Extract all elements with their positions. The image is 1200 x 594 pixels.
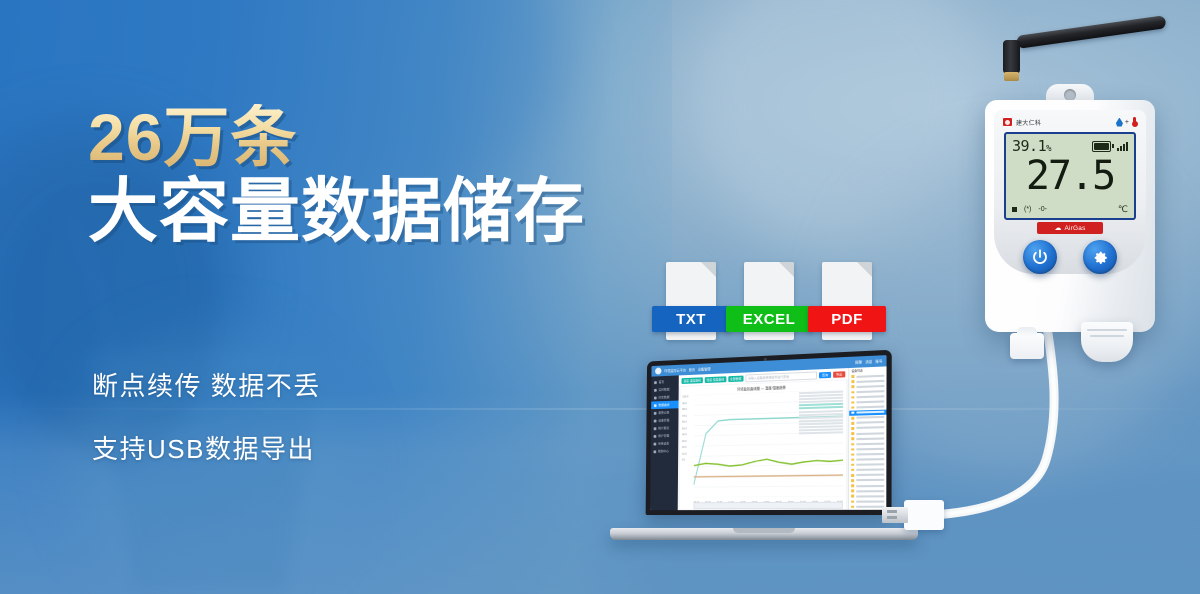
- file-label-band: PDF: [808, 306, 886, 332]
- sensor-probe: [1081, 322, 1133, 362]
- y-tick-8: 20.0: [682, 446, 688, 449]
- folder-icon: [851, 432, 854, 435]
- signal-icon: [1117, 141, 1128, 151]
- data-logger-device: 建大仁科 + 39.1%: [985, 100, 1155, 350]
- dashboard-main: 温度 温度曲线 湿度 湿度曲线 全部数据 请输入设备名称或编号进行查询 查询 导…: [678, 368, 849, 510]
- folder-icon: [851, 505, 854, 508]
- battery-icon: [1092, 141, 1111, 152]
- header-spacer: [713, 362, 852, 368]
- folder-icon: [851, 453, 854, 456]
- subtext-line-2: 支持USB数据导出: [92, 429, 321, 466]
- folder-icon: [851, 490, 854, 493]
- query-button[interactable]: 查询: [819, 371, 831, 378]
- subtext-block: 断点续传 数据不丢 支持USB数据导出: [92, 366, 321, 492]
- header-menu-item[interactable]: 首页: [689, 367, 695, 372]
- sidebar-item-label: 统计报表: [658, 426, 669, 430]
- sidebar-item-icon: [654, 434, 657, 437]
- airgas-label: AirGas: [1064, 225, 1085, 232]
- grid-line: [694, 497, 843, 498]
- folder-icon: [851, 417, 854, 420]
- sidebar-item-icon: [653, 450, 656, 453]
- folder-icon: [851, 396, 854, 399]
- folder-icon: [851, 422, 854, 425]
- sidebar-item-icon: [654, 442, 657, 445]
- tooltip-row: [799, 432, 843, 435]
- sidebar-item-label: 设备管理: [658, 418, 669, 422]
- folder-icon: [851, 448, 854, 451]
- temperature-reading: 27.5: [1006, 156, 1134, 196]
- antenna-hinge-icon: [1003, 40, 1020, 74]
- y-tick-5: 50.0: [682, 427, 688, 430]
- folder-icon: [851, 380, 854, 383]
- folder-icon: [851, 464, 854, 467]
- y-tick-9: 10.0: [682, 452, 688, 455]
- folder-icon: [851, 474, 854, 477]
- folder-icon: [851, 427, 854, 430]
- sidebar-item-icon: [654, 381, 657, 384]
- device-brand-row: 建大仁科 +: [1002, 116, 1138, 128]
- chart-y-axis: 100.090.080.070.060.050.040.030.020.010.…: [682, 395, 689, 461]
- chart-data-tooltip: [799, 391, 843, 436]
- headline-gold: 26万条: [88, 104, 688, 170]
- sidebar-item-label: 首页: [659, 380, 665, 384]
- y-tick-3: 70.0: [682, 414, 688, 417]
- sidebar-item-label: 实时数据: [659, 387, 670, 391]
- lcd-display: 39.1% 27.5 (*) -0- ℃: [1004, 132, 1136, 220]
- gear-icon: [1091, 248, 1109, 266]
- file-format-badges: TXT EXCEL PDF: [660, 262, 878, 342]
- dashboard-title: 环境监控云平台: [664, 367, 686, 373]
- page-fold-icon: [779, 262, 794, 277]
- headline-white: 大容量数据储存: [88, 176, 688, 247]
- banner-stage: 26万条 大容量数据储存 断点续传 数据不丢 支持USB数据导出 TXT EXC…: [0, 0, 1200, 594]
- laptop-base: [610, 528, 918, 540]
- chart-panel: 环境监控曲线图 — 温度/湿度趋势 100.090.080.070.060.05…: [680, 380, 847, 509]
- page-fold-icon: [701, 262, 716, 277]
- folder-icon: [851, 375, 854, 378]
- filter-chip-temperature[interactable]: 温度 温度曲线: [681, 377, 702, 384]
- header-message[interactable]: 消息: [865, 359, 872, 364]
- chart-range-slider[interactable]: [693, 502, 842, 509]
- chart-series-2: [694, 475, 843, 477]
- sidebar-item-label: 历史数据: [658, 395, 669, 399]
- folder-icon: [851, 438, 854, 441]
- device-buttons: [994, 240, 1146, 274]
- sidebar-item-icon: [654, 427, 657, 430]
- sidebar-item-icon: [654, 411, 657, 414]
- folder-icon: [851, 458, 854, 461]
- usb-c-plug: [1010, 333, 1044, 359]
- device-body: 建大仁科 + 39.1%: [985, 100, 1155, 332]
- folder-icon: [851, 391, 854, 394]
- laptop: 环境监控云平台 首页 设备管理 报警 消息 账号 首页实时数据历史数据数据曲线报…: [610, 355, 918, 540]
- y-tick-2: 80.0: [682, 408, 688, 411]
- link-indicator-icon: -0-: [1038, 206, 1047, 213]
- folder-icon: [851, 386, 854, 389]
- plus-symbol: +: [1125, 119, 1129, 126]
- y-tick-0: 100.0: [682, 395, 688, 398]
- filter-chip-humidity[interactable]: 湿度 湿度曲线: [705, 376, 727, 383]
- folder-icon: [851, 406, 854, 409]
- sidebar-item-icon: [654, 396, 657, 399]
- settings-button[interactable]: [1083, 240, 1117, 274]
- sidebar-item-label: 系统设置: [658, 441, 669, 445]
- sun-indicator-icon: (*): [1024, 206, 1031, 213]
- grid-line: [694, 454, 843, 457]
- measurement-symbols: +: [1116, 117, 1138, 127]
- thermometer-icon: [1131, 117, 1138, 127]
- folder-icon: [851, 484, 854, 487]
- folder-icon: [851, 495, 854, 498]
- sidebar-item-9[interactable]: 帮助中心: [651, 447, 678, 455]
- folder-icon: [851, 469, 854, 472]
- y-tick-6: 40.0: [682, 433, 688, 436]
- file-badge-txt: TXT: [660, 262, 722, 342]
- sidebar-item-label: 数据曲线: [658, 403, 669, 407]
- header-alarm[interactable]: 报警: [855, 359, 862, 364]
- temperature-unit: ℃: [1118, 204, 1128, 215]
- grid-line: [694, 443, 843, 446]
- app-logo-icon: [655, 368, 661, 375]
- power-icon: [1031, 248, 1049, 266]
- humidity-drop-icon: [1116, 118, 1123, 127]
- headline-block: 26万条 大容量数据储存: [88, 104, 688, 247]
- folder-icon: [851, 479, 854, 482]
- device-faceplate: 建大仁科 + 39.1%: [994, 110, 1146, 274]
- brand-logo-icon: [1002, 117, 1013, 127]
- page-fold-icon: [857, 262, 872, 277]
- folder-icon: [851, 412, 854, 415]
- power-button[interactable]: [1023, 240, 1057, 274]
- antenna-connector-icon: [1004, 72, 1019, 81]
- dashboard-body: 首页实时数据历史数据数据曲线报警记录设备管理统计报表用户管理系统设置帮助中心 温…: [650, 366, 886, 510]
- y-tick-10: 0.0: [682, 458, 688, 461]
- sidebar-item-label: 报警记录: [658, 411, 669, 415]
- usb-connector: [882, 500, 944, 530]
- sidebar-item-label: 用户管理: [658, 434, 669, 438]
- search-input[interactable]: 请输入设备名称或编号进行查询: [745, 371, 817, 382]
- record-indicator-icon: [1012, 207, 1017, 212]
- file-label-band: EXCEL: [726, 306, 812, 332]
- sidebar-item-label: 帮助中心: [658, 449, 669, 453]
- file-badge-excel: EXCEL: [738, 262, 800, 342]
- y-tick-7: 30.0: [682, 440, 688, 443]
- usb-housing: [904, 500, 944, 530]
- airgas-badge: ☁ AirGas: [1037, 222, 1103, 234]
- subtext-line-1: 断点续传 数据不丢: [92, 366, 321, 403]
- dashboard-sidebar: 首页实时数据历史数据数据曲线报警记录设备管理统计报表用户管理系统设置帮助中心: [650, 375, 679, 510]
- grid-line: [694, 486, 843, 487]
- y-tick-4: 60.0: [682, 421, 688, 424]
- usb-plug-icon: [882, 507, 908, 523]
- wifi-icon: ☁: [1054, 225, 1061, 232]
- lcd-bottom-row: (*) -0- ℃: [1012, 204, 1128, 215]
- export-button[interactable]: 导出: [833, 371, 845, 378]
- laptop-lid: 环境监控云平台 首页 设备管理 报警 消息 账号 首页实时数据历史数据数据曲线报…: [646, 350, 892, 515]
- file-label-band: TXT: [652, 306, 730, 332]
- sidebar-item-icon: [654, 419, 657, 422]
- sidebar-item-icon: [654, 404, 657, 407]
- header-menu-item[interactable]: 设备管理: [698, 366, 711, 371]
- filter-chip-all[interactable]: 全部数据: [728, 375, 743, 382]
- folder-icon: [851, 401, 854, 404]
- laptop-screen: 环境监控云平台 首页 设备管理 报警 消息 账号 首页实时数据历史数据数据曲线报…: [650, 355, 886, 510]
- webcam-icon: [763, 358, 766, 361]
- file-badge-pdf: PDF: [816, 262, 878, 342]
- sidebar-item-icon: [654, 388, 657, 391]
- folder-icon: [851, 500, 854, 503]
- y-tick-1: 90.0: [682, 402, 688, 405]
- folder-icon: [851, 443, 854, 446]
- brand-name: 建大仁科: [1016, 118, 1041, 127]
